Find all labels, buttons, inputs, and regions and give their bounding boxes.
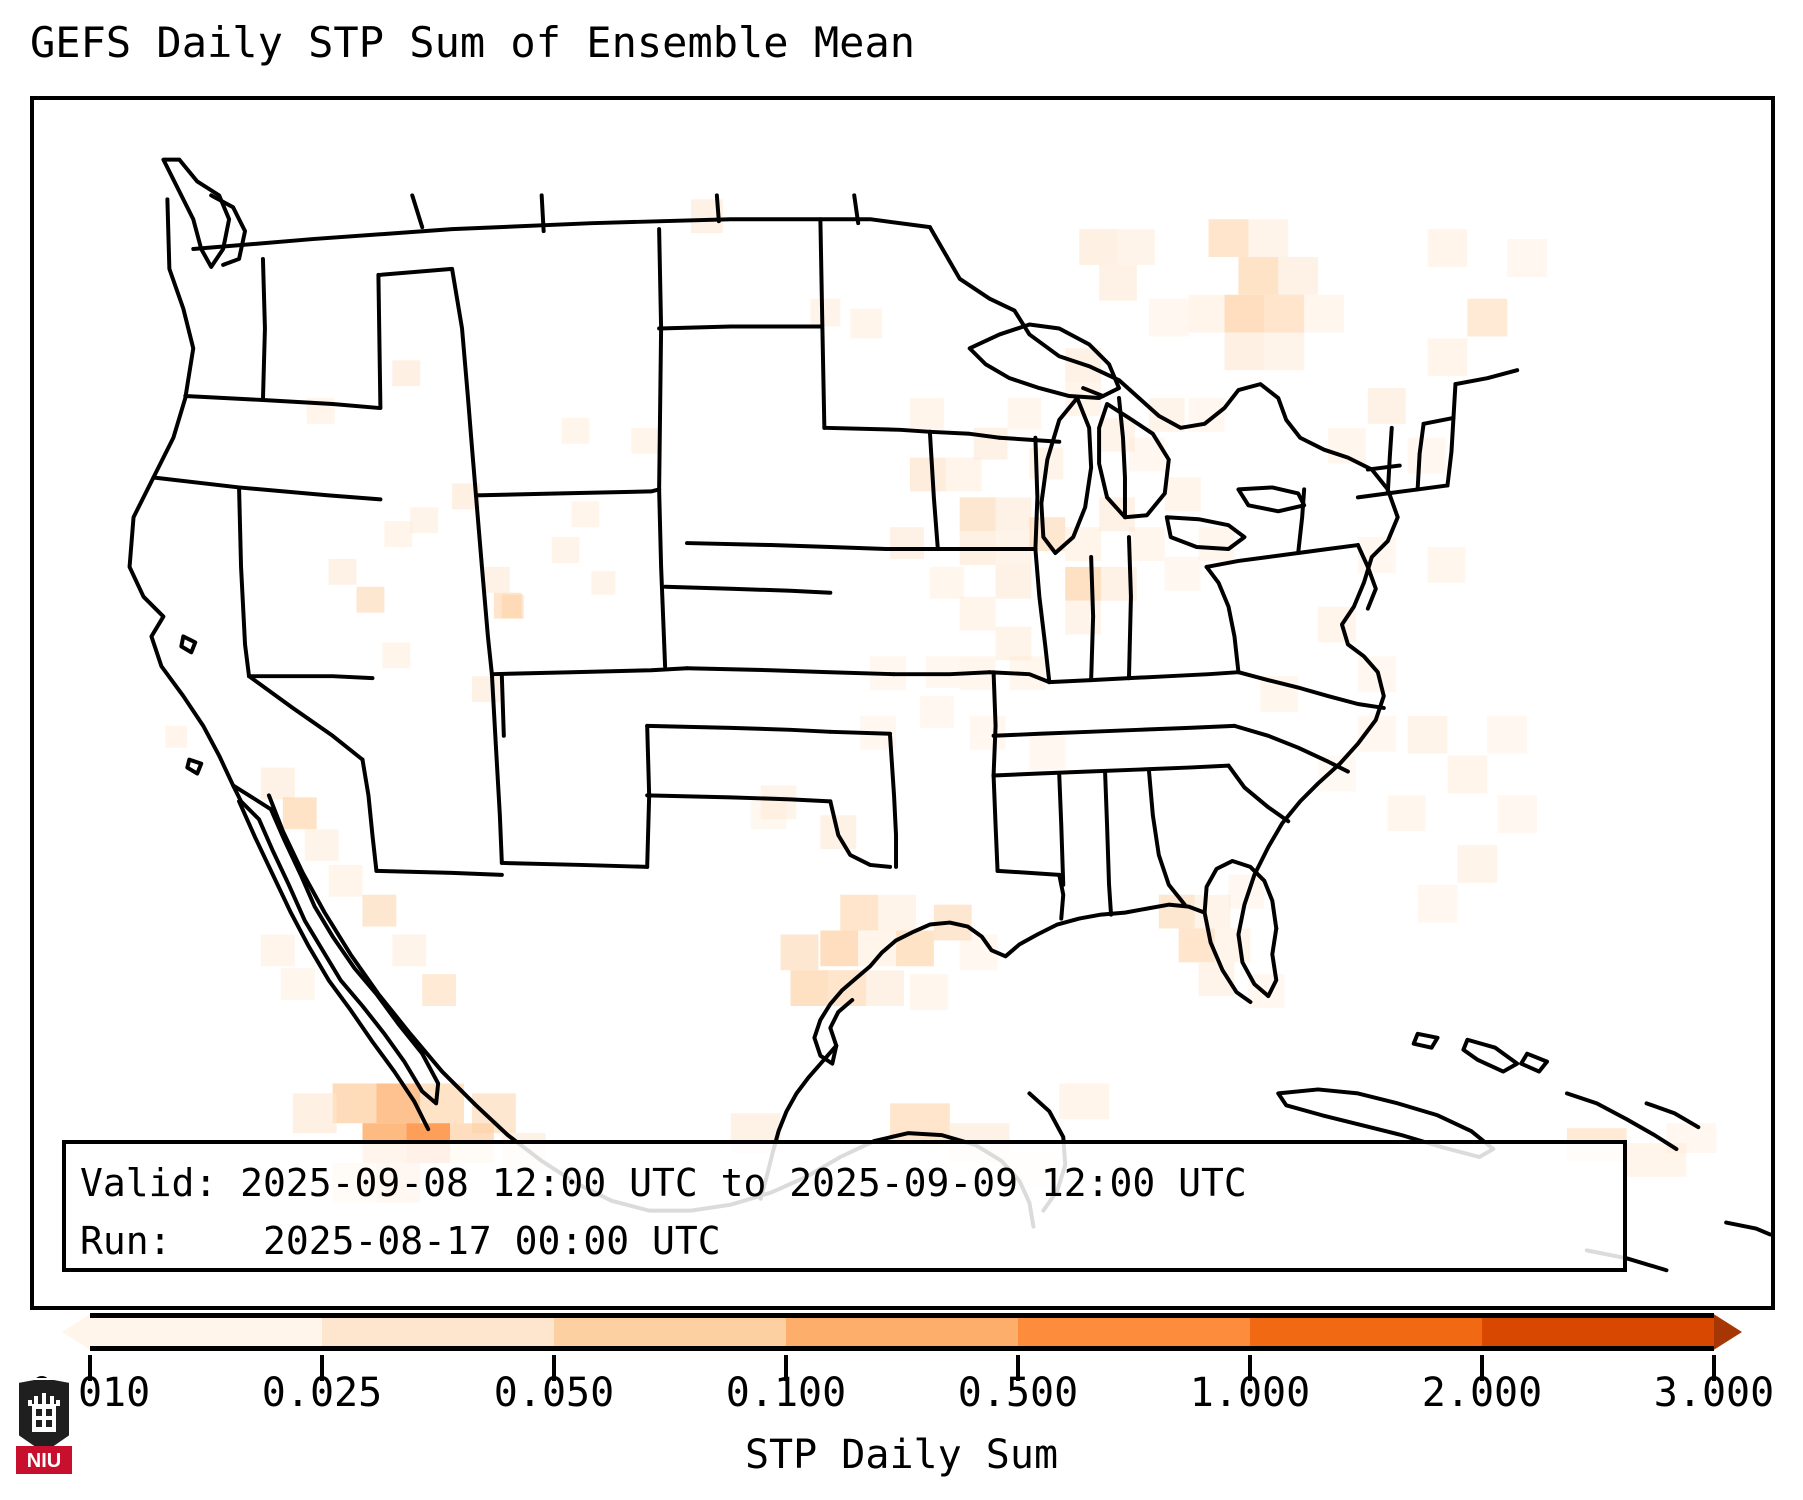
colorbar-band-6 (1482, 1318, 1714, 1346)
colorbar-under-arrow (62, 1313, 92, 1351)
colorbar-band-5 (1250, 1318, 1482, 1346)
valid-run-annotation-box: Valid: 2025-09-08 12:00 UTC to 2025-09-0… (62, 1140, 1627, 1272)
niu-shield-logo: NIU (14, 1378, 74, 1478)
colorbar-tick-label-4: 0.500 (958, 1370, 1078, 1416)
colorbar-band-1 (322, 1318, 554, 1346)
colorbar-tick-label-5: 1.000 (1190, 1370, 1310, 1416)
colorbar-bands (90, 1313, 1714, 1351)
colorbar-tick-label-6: 2.000 (1422, 1370, 1542, 1416)
map-canvas (34, 100, 1771, 1306)
niu-logo-text: NIU (27, 1450, 61, 1472)
colorbar-band-0 (90, 1318, 322, 1346)
valid-period-text: Valid: 2025-09-08 12:00 UTC to 2025-09-0… (80, 1154, 1623, 1212)
colorbar-axis-label: STP Daily Sum (0, 1432, 1803, 1478)
colorbar-tick-label-3: 0.100 (726, 1370, 846, 1416)
colorbar (62, 1309, 1742, 1355)
colorbar-band-3 (786, 1318, 1018, 1346)
niu-logo-svg: NIU (14, 1378, 74, 1478)
colorbar-over-arrow (1712, 1313, 1742, 1351)
colorbar-tick-label-7: 3.000 (1654, 1370, 1774, 1416)
colorbar-band-2 (554, 1318, 786, 1346)
page-title: GEFS Daily STP Sum of Ensemble Mean (30, 18, 915, 67)
colorbar-tick-label-2: 0.050 (494, 1370, 614, 1416)
map-plot-area (30, 96, 1775, 1310)
colorbar-tick-label-1: 0.025 (262, 1370, 382, 1416)
colorbar-band-4 (1018, 1318, 1250, 1346)
colorbar-tick-labels: 0.0100.0250.0500.1000.5001.0002.0003.000 (0, 1370, 1803, 1420)
model-run-text: Run: 2025-08-17 00:00 UTC (80, 1212, 1623, 1270)
